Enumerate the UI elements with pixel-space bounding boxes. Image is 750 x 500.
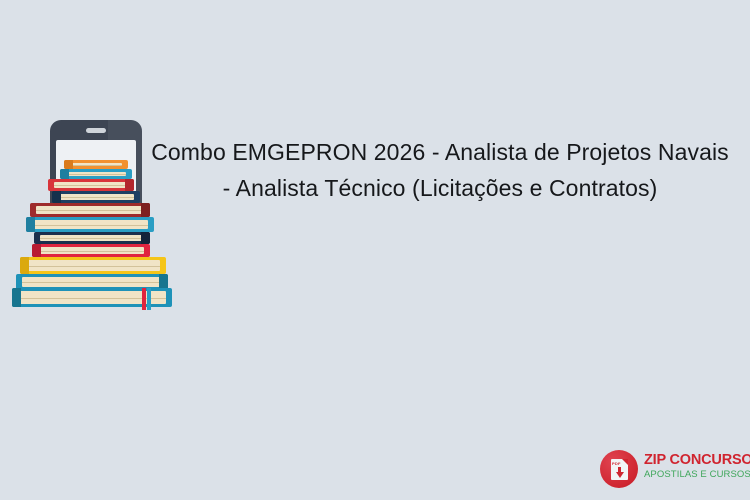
book-blue-mid xyxy=(26,217,154,232)
pdf-label: PDF xyxy=(612,461,621,466)
book-navy-upper xyxy=(52,191,140,203)
book-navy-mid xyxy=(34,232,150,244)
book-darkred-mid xyxy=(30,203,150,217)
brand-logo[interactable]: PDF ZIP CONCURSOS APOSTILAS E CURSOS xyxy=(600,449,742,491)
product-title: Combo EMGEPRON 2026 - Analista de Projet… xyxy=(140,134,740,206)
download-arrow-icon xyxy=(616,472,624,478)
book-base xyxy=(12,288,172,307)
bookmark-red xyxy=(142,288,146,310)
book-orange-top xyxy=(64,160,128,169)
product-banner: Combo EMGEPRON 2026 - Analista de Projet… xyxy=(0,0,750,500)
tablet-speaker xyxy=(86,128,106,133)
book-red-upper xyxy=(48,179,134,191)
document-fold xyxy=(622,459,628,465)
brand-tagline: APOSTILAS E CURSOS xyxy=(644,469,744,481)
brand-name: ZIP CONCURSOS xyxy=(644,452,744,469)
book-teal-upper xyxy=(60,169,132,179)
book-crimson-mid xyxy=(32,244,150,257)
book-yellow-lower xyxy=(20,257,166,274)
bookmark-blue xyxy=(147,288,151,310)
product-title-line-1: Combo EMGEPRON 2026 - Analista de Projet… xyxy=(140,134,740,170)
brand-logo-text: ZIP CONCURSOS APOSTILAS E CURSOS xyxy=(644,452,744,481)
product-title-line-2: - Analista Técnico (Licitações e Contrat… xyxy=(140,170,740,206)
pdf-download-icon: PDF xyxy=(600,450,638,488)
document-shape: PDF xyxy=(611,459,628,480)
